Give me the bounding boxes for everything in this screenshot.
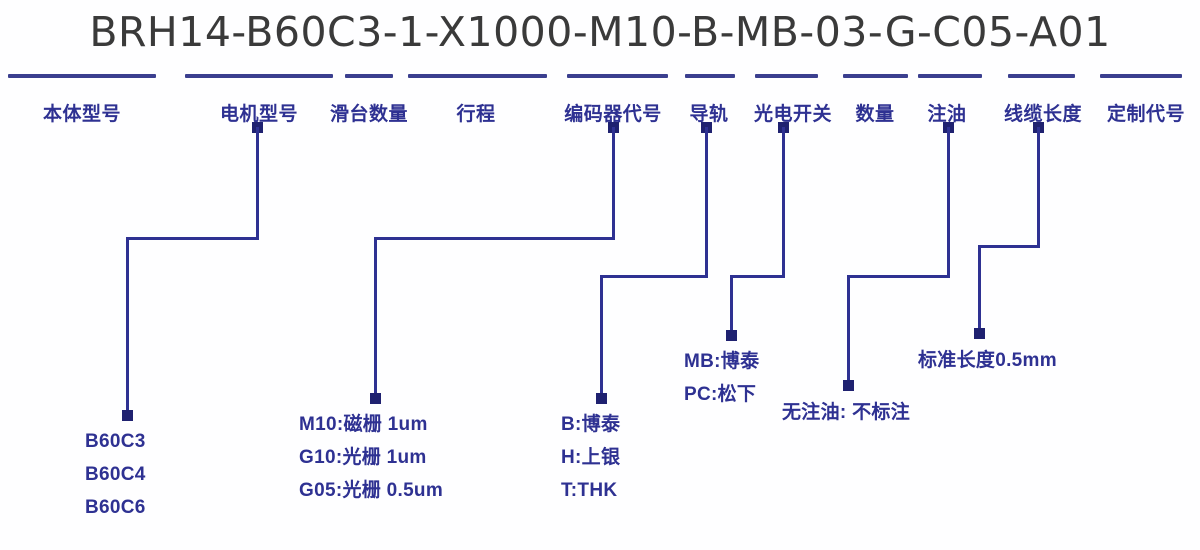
leader-zhuyou-horizontal	[847, 275, 950, 278]
option-item: PC:松下	[684, 378, 759, 411]
options-photo-switch: MB:博泰 PC:松下	[684, 345, 759, 411]
segment-underline-daogui	[685, 74, 735, 78]
option-item: G10:光栅 1um	[299, 441, 443, 474]
leader-photo-endpoint	[726, 330, 737, 341]
segment-underline-xingcheng	[408, 74, 547, 78]
option-item: B60C6	[85, 491, 146, 524]
segment-underline-bianmaqi	[567, 74, 668, 78]
field-label-guangdian: 光电开关	[745, 99, 841, 126]
leader-oil-drop	[847, 275, 850, 385]
leader-bianmaqi-horizontal	[374, 237, 615, 240]
option-item: G05:光栅 0.5um	[299, 474, 443, 507]
leader-cable-endpoint	[974, 328, 985, 339]
leader-rail-drop	[600, 275, 603, 400]
segment-underline-benti	[8, 74, 156, 78]
field-label-benti: 本体型号	[8, 99, 156, 126]
leader-oil-endpoint	[843, 380, 854, 391]
leader-xianlan-horizontal	[978, 245, 1040, 248]
leader-dianji-vertical	[256, 127, 259, 239]
option-item: H:上银	[561, 441, 620, 474]
segment-underline-shuliang	[843, 74, 908, 78]
segment-underline-zhuyou	[918, 74, 982, 78]
part-number-breakdown-diagram: BRH14-B60C3-1-X1000-M10-B-MB-03-G-C05-A0…	[0, 0, 1200, 550]
option-item: B60C4	[85, 458, 146, 491]
leader-dianji-horizontal	[126, 237, 259, 240]
segment-underline-guangdian	[755, 74, 818, 78]
field-label-xingcheng: 行程	[428, 99, 524, 126]
option-item: 标准长度0.5mm	[918, 344, 1057, 377]
leader-xianlan-vertical	[1037, 127, 1040, 247]
field-label-huatai: 滑台数量	[321, 99, 417, 126]
option-item: B60C3	[85, 425, 146, 458]
leader-encoder-endpoint	[370, 393, 381, 404]
leader-benti-endpoint	[122, 410, 133, 421]
leader-guangdian-vertical	[782, 127, 785, 277]
leader-guangdian-horizontal	[730, 275, 785, 278]
options-oiling: 无注油: 不标注	[782, 396, 910, 429]
options-encoder-code: M10:磁栅 1um G10:光栅 1um G05:光栅 0.5um	[299, 408, 443, 507]
leader-bianmaqi-vertical	[612, 127, 615, 239]
leader-daogui-horizontal	[600, 275, 708, 278]
option-item: 无注油: 不标注	[782, 396, 910, 429]
field-label-dingzhi: 定制代号	[1098, 99, 1194, 126]
option-item: T:THK	[561, 474, 620, 507]
options-body-model: B60C3 B60C4 B60C6	[85, 425, 146, 524]
segment-underline-xianlan	[1008, 74, 1075, 78]
option-item: MB:博泰	[684, 345, 759, 378]
leader-cable-drop	[978, 245, 981, 335]
part-number-title: BRH14-B60C3-1-X1000-M10-B-MB-03-G-C05-A0…	[0, 8, 1200, 56]
options-cable-length: 标准长度0.5mm	[918, 344, 1057, 377]
segment-underline-dingzhi	[1100, 74, 1182, 78]
field-label-shuliang: 数量	[846, 99, 904, 126]
option-item: M10:磁栅 1um	[299, 408, 443, 441]
options-guide-rail: B:博泰 H:上银 T:THK	[561, 408, 620, 507]
leader-photo-drop	[730, 275, 733, 337]
segment-underline-huatai	[345, 74, 393, 78]
leader-rail-endpoint	[596, 393, 607, 404]
leader-encoder-drop	[374, 237, 377, 400]
option-item: B:博泰	[561, 408, 620, 441]
leader-zhuyou-vertical	[947, 127, 950, 277]
segment-underline-dianji	[185, 74, 333, 78]
leader-daogui-vertical	[705, 127, 708, 277]
leader-benti-vertical	[126, 237, 129, 417]
